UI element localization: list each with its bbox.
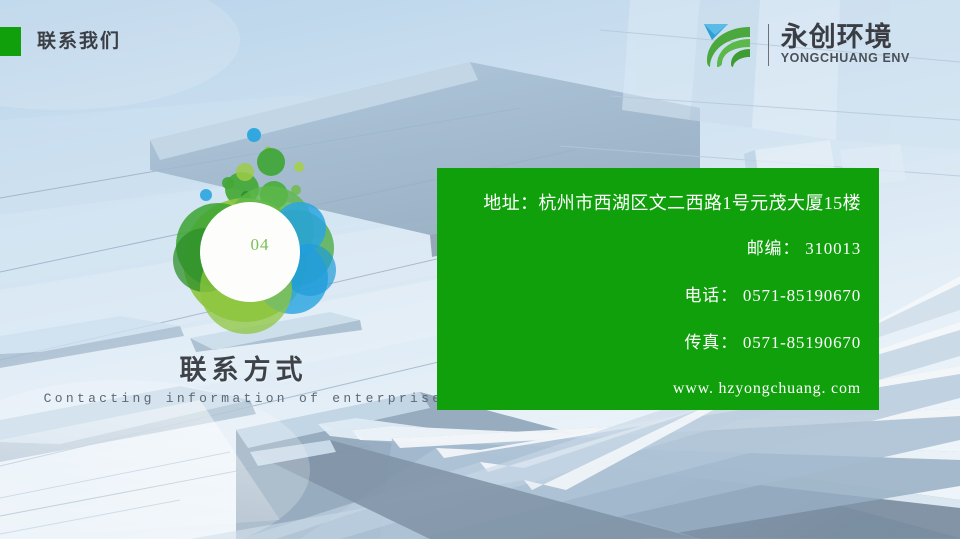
company-logo: 永创环境 YONGCHUANG ENV — [698, 21, 910, 68]
logo-text: 永创环境 YONGCHUANG ENV — [781, 23, 910, 66]
contact-line-postcode: 邮编： 310013 — [455, 240, 861, 257]
contact-line-telephone: 电话： 0571-85190670 — [455, 287, 861, 304]
section-number-badge: 04 — [150, 110, 370, 350]
logo-name-cn: 永创环境 — [781, 23, 910, 51]
contact-info-panel: 地址：杭州市西湖区文二西路1号元茂大厦15楼 邮编： 310013 电话： 05… — [437, 168, 879, 410]
bubble-cluster-icon — [150, 110, 370, 350]
contact-line-website[interactable]: www. hzyongchuang. com — [455, 381, 861, 397]
page-header: 联系我们 — [0, 27, 121, 56]
yongchuang-swoosh-logo-icon — [698, 21, 760, 68]
section-subtitle: Contacting information of enterprise — [0, 391, 487, 406]
contact-line-fax: 传真： 0571-85190670 — [455, 334, 861, 351]
header-accent-bar — [0, 27, 21, 56]
logo-divider — [768, 24, 769, 66]
section-title: 联系方式 — [0, 348, 487, 387]
slide-root: 联系我们 永创环境 YONGCHUANG ENV — [0, 0, 960, 539]
contact-line-address: 地址：杭州市西湖区文二西路1号元茂大厦15楼 — [455, 194, 861, 212]
page-title: 联系我们 — [37, 32, 121, 51]
logo-name-en: YONGCHUANG ENV — [781, 52, 910, 66]
badge-number: 04 — [150, 236, 370, 253]
